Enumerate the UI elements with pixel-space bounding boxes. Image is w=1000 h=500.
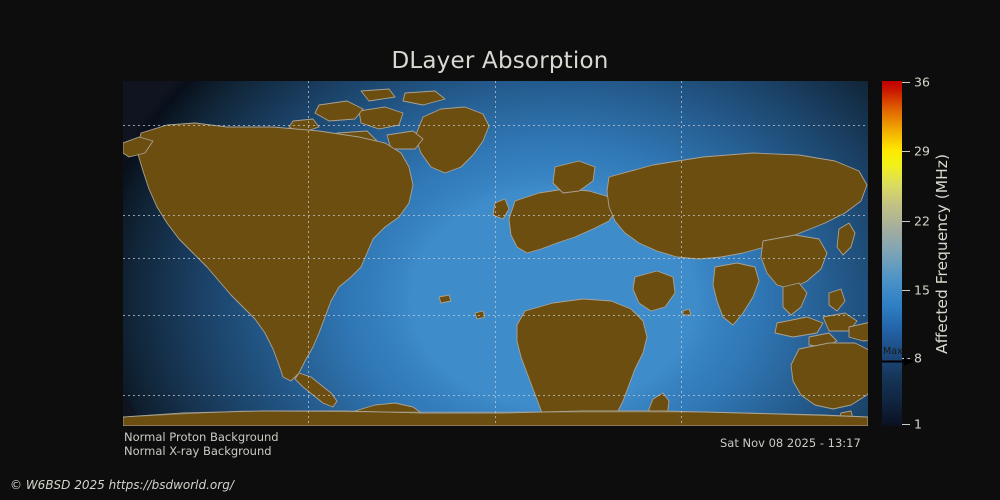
colorbar-tick [902,424,910,425]
map-canvas [123,81,868,426]
colorbar-tick [902,82,910,83]
colorbar-tick-label-1: 1 [914,417,922,432]
world-map[interactable] [123,81,868,426]
colorbar-tick-label-29: 29 [914,144,930,159]
proton-background-note: Normal Proton Background [124,430,279,444]
colorbar-axis-title: Affected Frequency (MHz) [930,81,954,426]
colorbar-tick [902,290,910,291]
colorbar-tick-label-22: 22 [914,214,930,229]
page-title: DLayer Absorption [0,48,1000,74]
colorbar-tick-label-36: 36 [914,75,930,90]
xray-background-note: Normal X-ray Background [124,444,272,458]
copyright-notice: © W6BSD 2025 https://bsdworld.org/ [10,478,234,492]
colorbar-tick [902,221,910,222]
colorbar-tick [902,151,910,152]
colorbar-axis-title-text: Affected Frequency (MHz) [933,154,951,354]
colorbar-gradient [882,81,902,426]
colorbar-tick-label-15: 15 [914,283,930,298]
max-marker: Max [882,348,916,366]
max-marker-label: Max [883,347,903,357]
timestamp: Sat Nov 08 2025 - 13:17 [720,436,861,450]
colorbar[interactable]: 36 29 22 15 8 1 [882,81,902,426]
dlayer-absorption-page: DLayer Absorption [0,0,1000,500]
max-marker-arrow-icon [882,357,914,366]
